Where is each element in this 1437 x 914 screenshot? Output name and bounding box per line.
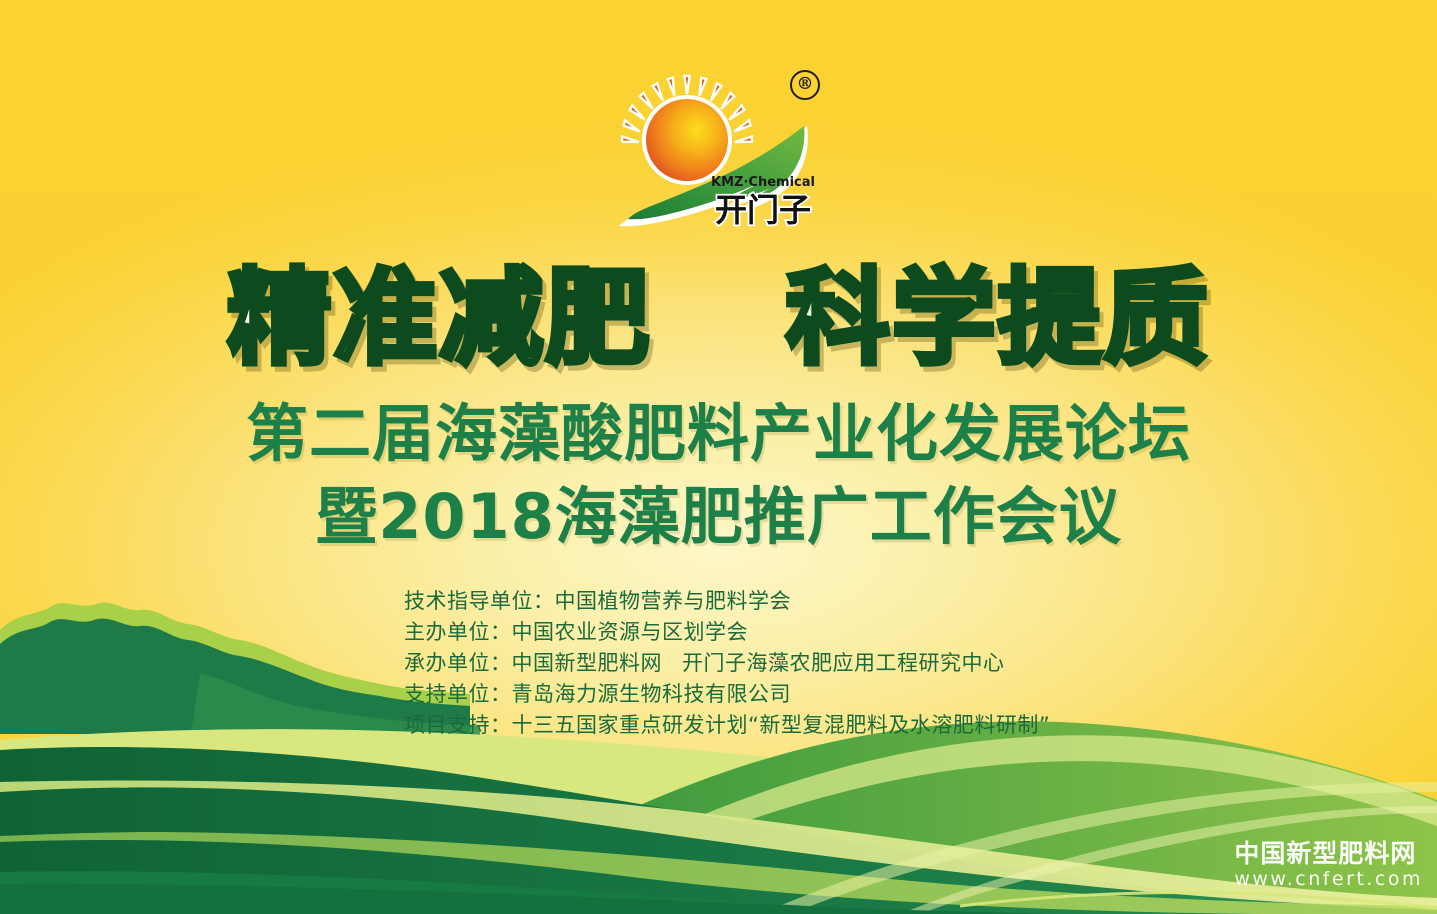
detail-line-host: 主办单位：中国农业资源与区划学会 [404, 617, 1050, 648]
headline-part2: 科学提质 [786, 266, 1210, 370]
detail-label: 承办单位： [404, 651, 512, 675]
sun-icon [642, 95, 732, 185]
subtitle-line-2: 暨2018海藻肥推广工作会议 [0, 486, 1437, 548]
logo-brand-latin: KMZ·Chemical [711, 175, 815, 190]
headline-part1: 精准减肥 [227, 266, 651, 370]
logo-block: KMZ·Chemical 开门子 ® [0, 60, 1437, 245]
detail-line-organizer: 承办单位：中国新型肥料网开门子海藻农肥应用工程研究中心 [404, 648, 1050, 679]
detail-value: 中国农业资源与区划学会 [512, 620, 749, 644]
detail-label: 主办单位： [404, 620, 512, 644]
detail-value: 中国植物营养与肥料学会 [555, 589, 792, 613]
watermark-url: www.cnfert.com [1234, 867, 1423, 892]
organizer-details: 技术指导单位：中国植物营养与肥料学会 主办单位：中国农业资源与区划学会 承办单位… [404, 586, 1050, 741]
detail-label: 技术指导单位： [404, 589, 555, 613]
subtitle-line-1: 第二届海藻酸肥料产业化发展论坛 [0, 403, 1437, 465]
detail-value: 青岛海力源生物科技有限公司 [512, 682, 792, 706]
detail-line-project-support: 项目支持：十三五国家重点研发计划“新型复混肥料及水溶肥料研制” [404, 710, 1050, 741]
detail-value: 中国新型肥料网 [512, 651, 663, 675]
headline: 精准减肥 科学提质 [0, 266, 1437, 370]
site-watermark: 中国新型肥料网 www.cnfert.com [1234, 840, 1423, 892]
conference-banner: KMZ·Chemical 开门子 ® 精准减肥 科学提质 第二届海藻酸肥料产业化… [0, 0, 1437, 914]
company-logo: KMZ·Chemical 开门子 ® [611, 60, 826, 245]
watermark-site-name: 中国新型肥料网 [1234, 840, 1423, 868]
detail-line-supporter: 支持单位：青岛海力源生物科技有限公司 [404, 679, 1050, 710]
detail-label: 支持单位： [404, 682, 512, 706]
detail-value-secondary: 开门子海藻农肥应用工程研究中心 [682, 651, 1005, 675]
detail-line-technical-guidance: 技术指导单位：中国植物营养与肥料学会 [404, 586, 1050, 617]
registered-trademark-icon: ® [790, 70, 820, 100]
logo-brand-cn: 开门子 [715, 191, 811, 229]
detail-label: 项目支持： [404, 713, 512, 737]
detail-value: 十三五国家重点研发计划“新型复混肥料及水溶肥料研制” [512, 713, 1051, 737]
